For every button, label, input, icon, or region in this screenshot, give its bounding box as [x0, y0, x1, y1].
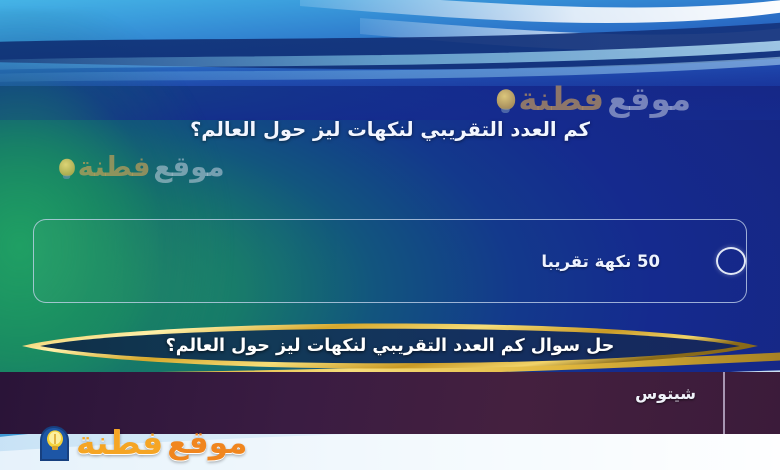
question-text: كم العدد التقريبي لنكهات ليز حول العالم؟: [0, 118, 780, 141]
answer-option-2-label: شيتوس: [635, 384, 696, 403]
logo-brand-label: فطنة: [76, 423, 163, 462]
answer-banner: حل سوال كم العدد التقريبي لنكهات ليز حول…: [18, 318, 762, 374]
site-logo[interactable]: موقع فطنة: [38, 423, 247, 462]
quiz-screenshot: كم العدد التقريبي لنكهات ليز حول العالم؟…: [0, 0, 780, 470]
answer-option-1-label: 50 نكهة تقريبا: [34, 252, 688, 271]
logo-site-label: موقع: [167, 425, 247, 461]
answer-option-1[interactable]: 50 نكهة تقريبا: [33, 219, 747, 303]
radio-unselected-icon[interactable]: [716, 247, 746, 275]
head-lightbulb-icon: [38, 425, 72, 461]
answer-banner-text: حل سوال كم العدد التقريبي لنكهات ليز حول…: [18, 318, 762, 374]
